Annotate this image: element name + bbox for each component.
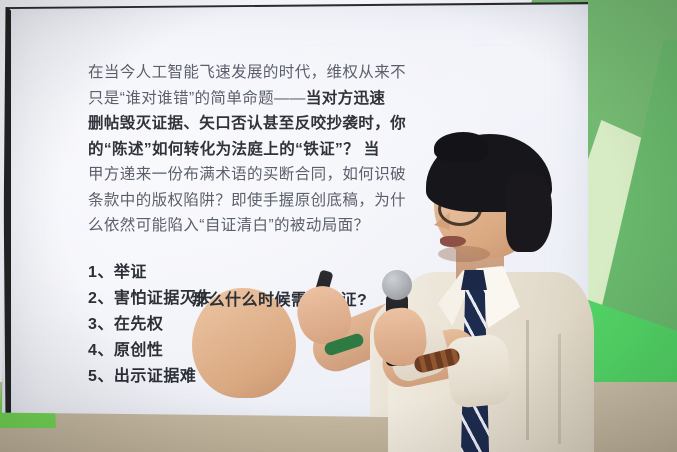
slide-line-2-bold: 当对方迅速 xyxy=(306,90,386,107)
shirt-fold xyxy=(558,334,561,444)
slide-list-heading: 那么什么时候需要公证? xyxy=(192,288,296,398)
shirt-fold xyxy=(526,320,529,440)
slide-line-2: 只是“谁对谁错”的简单命题——当对方迅速 xyxy=(88,86,508,112)
presenter-chin-shadow xyxy=(438,246,490,262)
presenter xyxy=(330,120,630,452)
necktie-knot xyxy=(461,270,487,290)
slide-line-2-normal: 只是“谁对谁错”的简单命题—— xyxy=(88,90,306,107)
presenter-hair-tuft xyxy=(434,132,488,162)
presenter-hair-side xyxy=(506,172,552,252)
presenter-right-sleeve xyxy=(445,333,514,409)
slide-line-1: 在当今人工智能飞速发展的时代，维权从来不 xyxy=(88,60,508,86)
microphone-head-icon xyxy=(382,270,412,300)
photo-scene: 在当今人工智能飞速发展的时代，维权从来不 只是“谁对谁错”的简单命题——当对方迅… xyxy=(0,0,677,452)
